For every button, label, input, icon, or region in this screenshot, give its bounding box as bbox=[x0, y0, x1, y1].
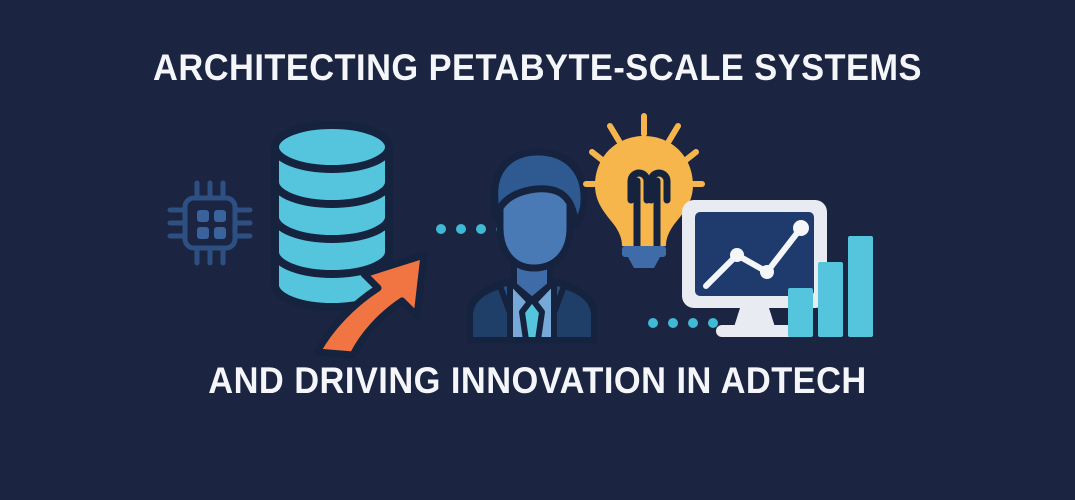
page-title-bottom: AND DRIVING INNOVATION IN ADTECH bbox=[38, 360, 1038, 402]
bar-3 bbox=[848, 236, 873, 337]
dot-connector-right bbox=[648, 318, 718, 328]
illustration-artwork bbox=[0, 0, 1075, 500]
bar-1 bbox=[788, 288, 813, 337]
dot-connector-left bbox=[436, 224, 506, 234]
cpu-chip-icon bbox=[170, 183, 250, 263]
banner-root: ARCHITECTING PETABYTE-SCALE SYSTEMS bbox=[0, 0, 1075, 500]
person-icon bbox=[470, 152, 594, 340]
bar-2 bbox=[818, 262, 843, 337]
